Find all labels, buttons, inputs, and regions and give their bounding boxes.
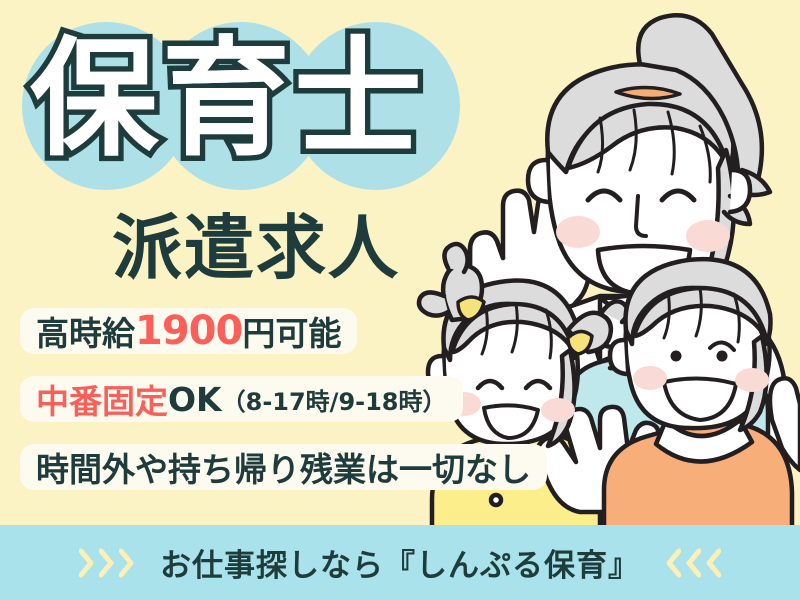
shift-badge-prefix: 中番固定: [36, 375, 168, 423]
shift-badge-hours: （8-17時/9-18時）: [222, 382, 447, 417]
chevron-group-left: [79, 548, 134, 578]
shift-badge: 中番固定 OK （8-17時/9-18時）: [20, 376, 463, 422]
overtime-badge: 時間外や持ち帰り残業は一切なし: [20, 444, 547, 490]
banner-text: お仕事探しなら『しんぷる保育』: [160, 540, 640, 585]
chevron-right-icon: [119, 548, 134, 578]
chevron-left-icon: [706, 548, 721, 578]
poster-root: 保育士 保育士 派遣求人 高時給 1900 円可能 中番固定 OK （8-17時…: [0, 0, 800, 600]
chevron-group-right: [666, 548, 721, 578]
chevron-left-icon: [666, 548, 681, 578]
shift-badge-ok: OK: [168, 380, 222, 419]
wage-badge-prefix: 高時給: [36, 307, 135, 355]
wage-badge: 高時給 1900 円可能: [20, 308, 357, 354]
bottom-banner: お仕事探しなら『しんぷる保育』: [0, 525, 800, 600]
chevron-right-icon: [99, 548, 114, 578]
wage-badge-suffix: 円可能: [242, 307, 341, 355]
page-title: 保育士: [30, 24, 470, 175]
overtime-badge-label: 時間外や持ち帰り残業は一切なし: [36, 443, 531, 491]
chevron-left-icon: [686, 548, 701, 578]
chevron-right-icon: [79, 548, 94, 578]
wage-badge-amount: 1900: [135, 308, 242, 354]
page-subtitle: 派遣求人: [112, 192, 400, 293]
